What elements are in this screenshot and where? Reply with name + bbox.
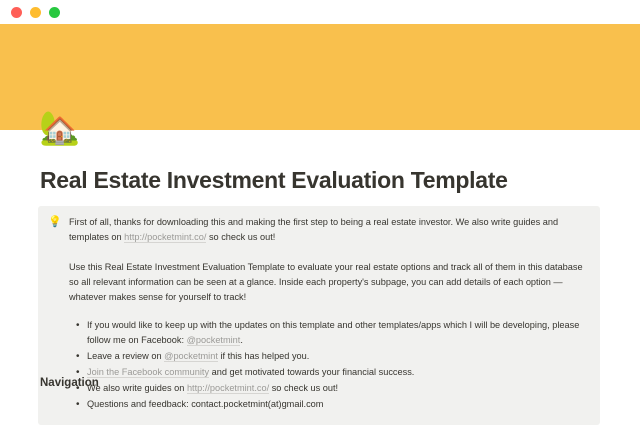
navigation-heading[interactable]: Navigation (40, 375, 99, 391)
facebook-pocketmint-link[interactable]: @pocketmint (187, 335, 241, 346)
page-title[interactable]: Real Estate Investment Evaluation Templa… (40, 166, 508, 194)
callout-bullet-list: If you would like to keep up with the up… (69, 318, 586, 412)
callout-content: First of all, thanks for downloading thi… (62, 215, 586, 413)
list-item-text-before: Questions and feedback: contact.pocketmi… (87, 399, 323, 409)
page-body: Real Estate Investment Evaluation Templa… (0, 130, 640, 400)
house-with-garden-icon[interactable]: 🏡 (39, 109, 77, 147)
list-item-text-before: We also write guides on (87, 383, 187, 393)
list-item: Questions and feedback: contact.pocketmi… (87, 397, 586, 412)
facebook-community-link[interactable]: Join the Facebook community (87, 367, 209, 378)
list-item: We also write guides on http://pocketmin… (87, 381, 586, 396)
list-item: If you would like to keep up with the up… (87, 318, 586, 348)
light-bulb-icon: 💡 (48, 215, 62, 230)
callout-paragraph-1: First of all, thanks for downloading thi… (69, 215, 586, 245)
page-cover-banner[interactable] (0, 24, 640, 130)
minimize-window-button[interactable] (30, 7, 41, 18)
list-item: Leave a review on @pocketmint if this ha… (87, 349, 586, 364)
callout-block[interactable]: 💡 First of all, thanks for downloading t… (38, 206, 600, 425)
list-item-text-after: . (240, 335, 243, 345)
pocketmint-website-link[interactable]: http://pocketmint.co/ (124, 232, 206, 243)
list-item-text-after: so check us out! (269, 383, 338, 393)
review-pocketmint-link[interactable]: @pocketmint (164, 351, 218, 362)
guides-pocketmint-link[interactable]: http://pocketmint.co/ (187, 383, 269, 394)
window-title-bar (0, 0, 640, 24)
close-window-button[interactable] (11, 7, 22, 18)
list-item-text-after: and get motivated towards your financial… (209, 367, 414, 377)
list-item: Join the Facebook community and get moti… (87, 365, 586, 380)
list-item-text-before: If you would like to keep up with the up… (87, 320, 579, 345)
callout-paragraph-2: Use this Real Estate Investment Evaluati… (69, 260, 586, 305)
callout-paragraph-1-text-after: so check us out! (206, 232, 275, 242)
traffic-lights (11, 7, 60, 18)
list-item-text-before: Leave a review on (87, 351, 164, 361)
callout-row: 💡 First of all, thanks for downloading t… (48, 215, 586, 413)
list-item-text-after: if this has helped you. (218, 351, 309, 361)
maximize-window-button[interactable] (49, 7, 60, 18)
